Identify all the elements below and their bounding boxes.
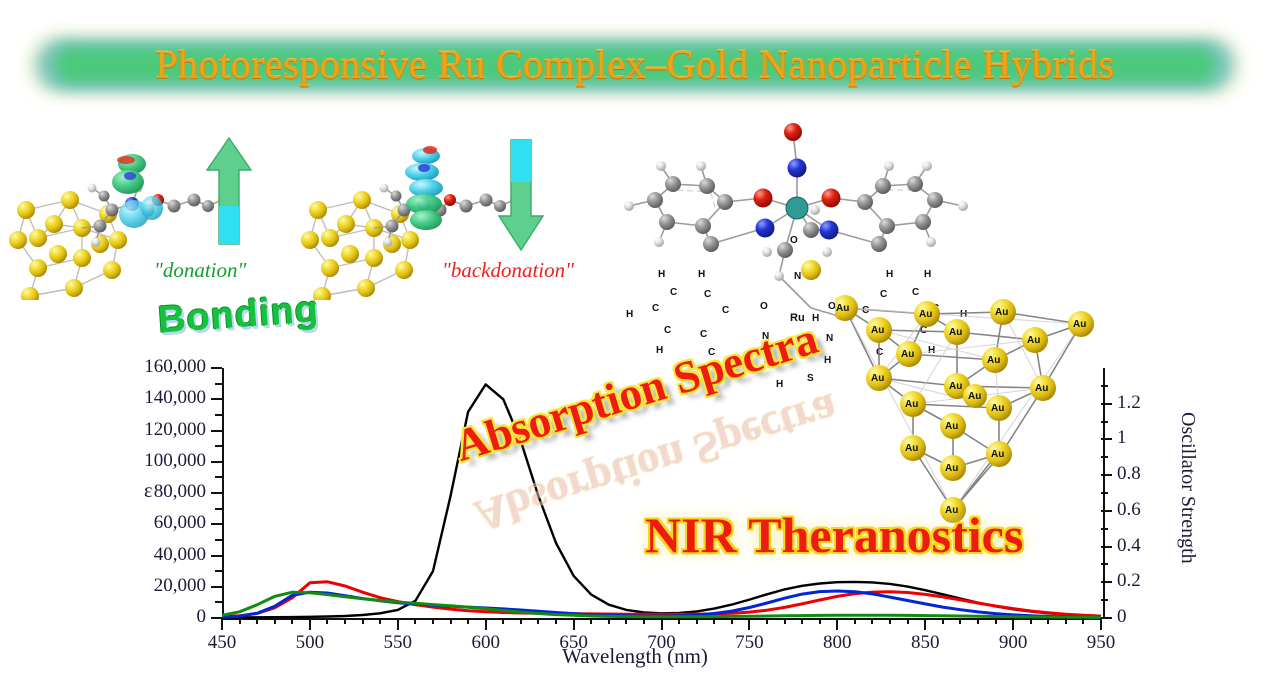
page-title: Photoresponsive Ru Complex–Gold Nanopart… (18, 24, 1252, 104)
atom-label-N-right: N (826, 334, 833, 344)
y2-tick-major (1101, 617, 1112, 619)
x-tick-minor (889, 618, 891, 624)
x-tick-label: 750 (721, 632, 777, 654)
y-tick-major (211, 492, 222, 494)
y-tick-minor (215, 508, 222, 510)
y-tick-label: 0 (130, 606, 206, 628)
x-tick-minor (1082, 618, 1084, 624)
x-tick-major (397, 618, 399, 630)
x-tick-major (1012, 618, 1014, 630)
x-tick-minor (326, 618, 328, 624)
y-tick-label: 140,000 (130, 387, 206, 409)
y2-tick-minor (1101, 385, 1108, 387)
y2-tick-major (1101, 581, 1112, 583)
x-tick-minor (291, 618, 293, 624)
x-tick-minor (819, 618, 821, 624)
y-tick-label: 40,000 (130, 544, 206, 566)
x-tick-label: 800 (809, 632, 865, 654)
title-banner: Photoresponsive Ru Complex–Gold Nanopart… (18, 24, 1252, 104)
x-tick-minor (907, 618, 909, 624)
x-tick-minor (1030, 618, 1032, 624)
y-tick-major (211, 523, 222, 525)
y2-tick-minor (1101, 456, 1108, 458)
y2-tick-major (1101, 438, 1112, 440)
x-tick-minor (713, 618, 715, 624)
y2-tick-minor (1101, 492, 1108, 494)
y-tick-minor (215, 539, 222, 541)
y-tick-major (211, 398, 222, 400)
x-tick-minor (766, 618, 768, 624)
y2-axis-label: Oscillator Strength (1176, 412, 1199, 564)
x-tick-major (221, 618, 223, 630)
x-tick-label: 950 (1073, 632, 1129, 654)
x-tick-major (924, 618, 926, 630)
x-tick-minor (696, 618, 698, 624)
x-tick-minor (854, 618, 856, 624)
x-tick-major (309, 618, 311, 630)
x-tick-minor (537, 618, 539, 624)
x-tick-major (661, 618, 663, 630)
graphical-abstract: Photoresponsive Ru Complex–Gold Nanopart… (0, 0, 1270, 696)
y2-tick-major (1101, 474, 1112, 476)
y-tick-label: 160,000 (130, 356, 206, 378)
y2-tick-label: 1 (1117, 427, 1127, 449)
x-tick-minor (379, 618, 381, 624)
x-tick-label: 600 (458, 632, 514, 654)
donation-caption: "donation" (154, 258, 246, 283)
y2-tick-minor (1101, 599, 1108, 601)
y2-tick-label: 0.6 (1117, 499, 1141, 521)
y-tick-minor (215, 476, 222, 478)
y2-tick-minor (1101, 563, 1108, 565)
y-tick-label: 80,000 (130, 481, 206, 503)
x-tick-minor (590, 618, 592, 624)
y-tick-major (211, 367, 222, 369)
x-tick-minor (502, 618, 504, 624)
x-tick-minor (995, 618, 997, 624)
x-tick-minor (520, 618, 522, 624)
x-tick-label: 900 (985, 632, 1041, 654)
x-tick-minor (555, 618, 557, 624)
y2-tick-major (1101, 510, 1112, 512)
x-tick-minor (256, 618, 258, 624)
x-tick-minor (344, 618, 346, 624)
donation-arrow-up (206, 136, 252, 246)
y-tick-minor (215, 383, 222, 385)
y2-tick-label: 0.8 (1117, 463, 1141, 485)
y2-tick-minor (1101, 528, 1108, 530)
x-tick-minor (1065, 618, 1067, 624)
y-tick-label: 60,000 (130, 512, 206, 534)
y-tick-label: 120,000 (130, 419, 206, 441)
x-tick-minor (871, 618, 873, 624)
x-tick-label: 700 (634, 632, 690, 654)
x-tick-minor (432, 618, 434, 624)
y2-tick-minor (1101, 421, 1108, 423)
y2-tick-label: 0.4 (1117, 535, 1141, 557)
series-black (222, 384, 1101, 617)
x-tick-minor (625, 618, 627, 624)
y-tick-major (211, 555, 222, 557)
y-tick-label: 20,000 (130, 575, 206, 597)
x-tick-major (485, 618, 487, 630)
y2-tick-major (1101, 403, 1112, 405)
nir-theranostics-label: NIR Theranostics (645, 506, 1023, 564)
y-tick-minor (215, 445, 222, 447)
y-tick-major (211, 430, 222, 432)
x-tick-label: 550 (370, 632, 426, 654)
x-tick-minor (784, 618, 786, 624)
x-tick-major (836, 618, 838, 630)
y-tick-minor (215, 414, 222, 416)
x-tick-minor (801, 618, 803, 624)
backdonation-arrow-down (498, 136, 544, 252)
backdonation-caption: "backdonation" (442, 258, 574, 283)
x-tick-minor (414, 618, 416, 624)
x-tick-major (748, 618, 750, 630)
x-tick-minor (274, 618, 276, 624)
x-tick-label: 850 (897, 632, 953, 654)
x-tick-minor (467, 618, 469, 624)
y-tick-minor (215, 570, 222, 572)
x-tick-major (573, 618, 575, 630)
y2-tick-major (1101, 546, 1112, 548)
x-tick-minor (678, 618, 680, 624)
atom-label-C-6: C (700, 330, 707, 340)
y-tick-major (211, 461, 222, 463)
x-tick-minor (977, 618, 979, 624)
x-tick-minor (608, 618, 610, 624)
x-tick-minor (239, 618, 241, 624)
y-tick-minor (215, 601, 222, 603)
x-tick-major (1100, 618, 1102, 630)
x-tick-label: 650 (546, 632, 602, 654)
x-tick-minor (362, 618, 364, 624)
x-tick-minor (643, 618, 645, 624)
atom-label-C-5: C (664, 326, 671, 336)
x-tick-minor (959, 618, 961, 624)
y2-tick-label: 0 (1117, 606, 1127, 628)
x-tick-label: 500 (282, 632, 338, 654)
x-tick-minor (942, 618, 944, 624)
x-tick-minor (731, 618, 733, 624)
molecule-donation: "donation" (8, 130, 268, 300)
y2-tick-label: 0.2 (1117, 570, 1141, 592)
y2-tick-label: 1.2 (1117, 392, 1141, 414)
x-tick-minor (450, 618, 452, 624)
x-tick-label: 450 (194, 632, 250, 654)
y-tick-label: 100,000 (130, 450, 206, 472)
x-tick-minor (1047, 618, 1049, 624)
y-tick-major (211, 586, 222, 588)
molecule-backdonation: "backdonation" (300, 130, 560, 300)
